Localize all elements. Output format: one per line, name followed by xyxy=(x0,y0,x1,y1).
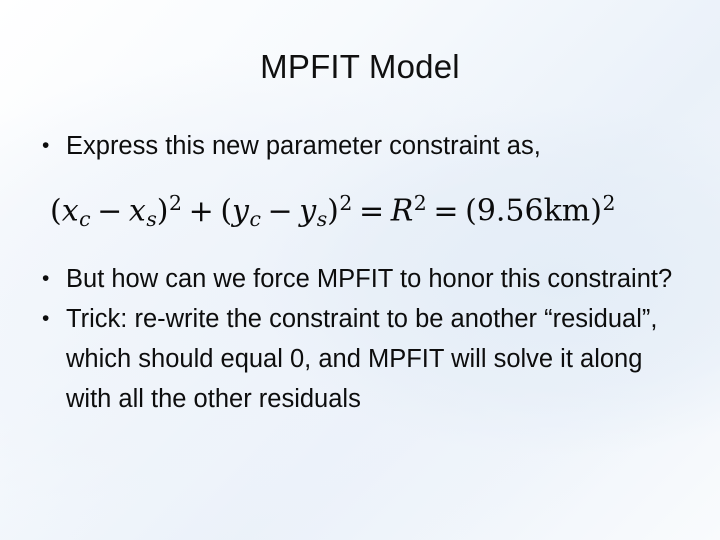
eq-exponent-4: 2 xyxy=(602,191,615,215)
bullet-marker-icon: • xyxy=(36,126,64,166)
eq-close-paren-3: ) xyxy=(590,194,602,229)
bullet-marker-icon: • xyxy=(36,259,64,299)
eq-var-R: R xyxy=(391,194,414,229)
bullet-text-express: Express this new parameter constraint as… xyxy=(64,126,686,166)
eq-unit-km: km xyxy=(544,194,591,229)
slide-canvas: MPFIT Model • Express this new parameter… xyxy=(0,0,720,540)
eq-close-paren-1: ) xyxy=(157,194,169,229)
eq-radius-value: 9.56 xyxy=(477,194,544,229)
bullet-text-trick: Trick: re-write the constraint to be ano… xyxy=(64,299,686,419)
eq-equals-2: = xyxy=(427,194,465,229)
bullet-item-trick: • Trick: re-write the constraint to be a… xyxy=(36,299,686,419)
eq-sub-s-2: s xyxy=(316,207,327,231)
constraint-equation: (xc−xs)2+(yc−ys)2=R2=(9.56km)2 xyxy=(50,176,615,246)
eq-var-yc: y xyxy=(232,194,249,229)
equation-region: (xc−xs)2+(yc−ys)2=R2=(9.56km)2 xyxy=(24,176,720,238)
eq-open-paren-3: ( xyxy=(465,194,477,229)
eq-open-paren-2: ( xyxy=(220,194,232,229)
eq-minus-1: − xyxy=(91,194,129,229)
slide-body: • Express this new parameter constraint … xyxy=(36,126,686,419)
eq-plus: + xyxy=(182,194,220,229)
eq-sub-c-2: c xyxy=(249,207,261,231)
page-title: MPFIT Model xyxy=(0,47,720,87)
eq-equals-1: = xyxy=(352,194,390,229)
eq-sub-c-1: c xyxy=(79,207,91,231)
eq-exponent-2: 2 xyxy=(339,191,352,215)
eq-exponent-1: 2 xyxy=(169,191,182,215)
eq-var-xc: x xyxy=(62,194,79,229)
eq-var-ys: y xyxy=(299,194,316,229)
eq-open-paren-1: ( xyxy=(50,194,62,229)
bullet-text-how-force: But how can we force MPFIT to honor this… xyxy=(64,259,686,299)
eq-minus-2: − xyxy=(261,194,299,229)
eq-close-paren-2: ) xyxy=(327,194,339,229)
eq-exponent-3: 2 xyxy=(413,191,426,215)
bullet-item-how-force: • But how can we force MPFIT to honor th… xyxy=(36,259,686,299)
eq-var-xs: x xyxy=(129,194,146,229)
bullet-marker-icon: • xyxy=(36,299,64,339)
bullet-item-express: • Express this new parameter constraint … xyxy=(36,126,686,166)
eq-sub-s-1: s xyxy=(146,207,157,231)
